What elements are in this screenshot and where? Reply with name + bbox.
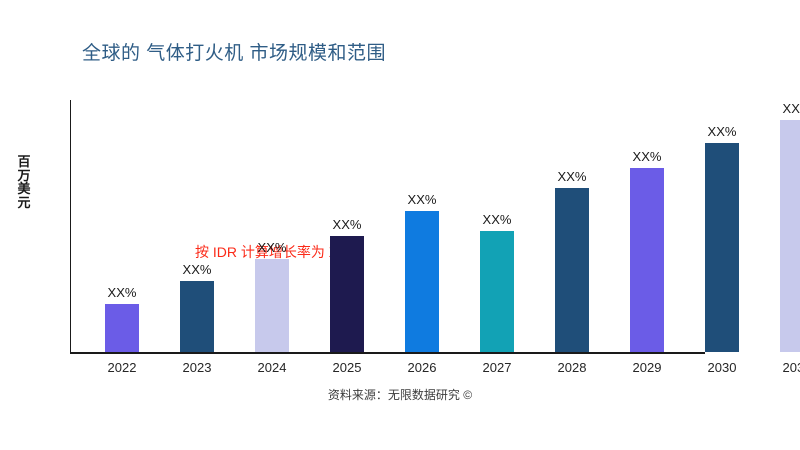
x-tick-label-2023: 2023	[183, 360, 212, 375]
bar-2028[interactable]	[555, 188, 589, 352]
bar-group: XX%2029	[630, 100, 664, 352]
bar-group: XX%2025	[330, 100, 364, 352]
x-tick-label-2031: 2031	[783, 360, 800, 375]
bar-value-label-2025: XX%	[333, 217, 362, 232]
x-tick-label-2027: 2027	[483, 360, 512, 375]
bar-value-label-2028: XX%	[558, 169, 587, 184]
bar-group: XX%2024	[255, 100, 289, 352]
bar-group: XX%2022	[105, 100, 139, 352]
y-axis-line	[70, 100, 71, 352]
bar-group: XX%2027	[480, 100, 514, 352]
bar-value-label-2024: XX%	[258, 240, 287, 255]
bar-group: XX%2030	[705, 100, 739, 352]
bar-group: XX%2026	[405, 100, 439, 352]
bar-value-label-2023: XX%	[183, 262, 212, 277]
x-tick-label-2024: 2024	[258, 360, 287, 375]
x-tick-label-2025: 2025	[333, 360, 362, 375]
bar-value-label-2026: XX%	[408, 192, 437, 207]
bar-value-label-2029: XX%	[633, 149, 662, 164]
bar-2022[interactable]	[105, 304, 139, 352]
bar-2031[interactable]	[780, 120, 800, 352]
bar-2029[interactable]	[630, 168, 664, 352]
x-tick-label-2028: 2028	[558, 360, 587, 375]
bar-2025[interactable]	[330, 236, 364, 352]
bar-group: XX%2023	[180, 100, 214, 352]
plot-area: 按 IDR 计算增长率为 XX% XX%2022XX%2023XX%2024XX…	[70, 100, 770, 352]
bar-group: XX%2028	[555, 100, 589, 352]
bar-value-label-2031: XX%	[783, 101, 800, 116]
x-tick-label-2026: 2026	[408, 360, 437, 375]
bar-2027[interactable]	[480, 231, 514, 352]
bar-value-label-2022: XX%	[108, 285, 137, 300]
bar-2026[interactable]	[405, 211, 439, 352]
bar-2023[interactable]	[180, 281, 214, 352]
x-axis-line	[70, 352, 705, 354]
bar-value-label-2027: XX%	[483, 212, 512, 227]
x-tick-label-2029: 2029	[633, 360, 662, 375]
y-axis-title: 百万美元	[13, 155, 35, 209]
x-tick-label-2030: 2030	[708, 360, 737, 375]
source-note: 资料来源：无限数据研究 ©	[0, 386, 800, 403]
bar-value-label-2030: XX%	[708, 124, 737, 139]
bar-2024[interactable]	[255, 259, 289, 352]
x-tick-label-2022: 2022	[108, 360, 137, 375]
bar-group: XX%2031	[780, 100, 800, 352]
bar-2030[interactable]	[705, 143, 739, 352]
chart-screenshot: { "header": { "title": "全球的 气体打火机 市场规模和范…	[0, 0, 800, 450]
page-title: 全球的 气体打火机 市场规模和范围	[82, 38, 386, 65]
